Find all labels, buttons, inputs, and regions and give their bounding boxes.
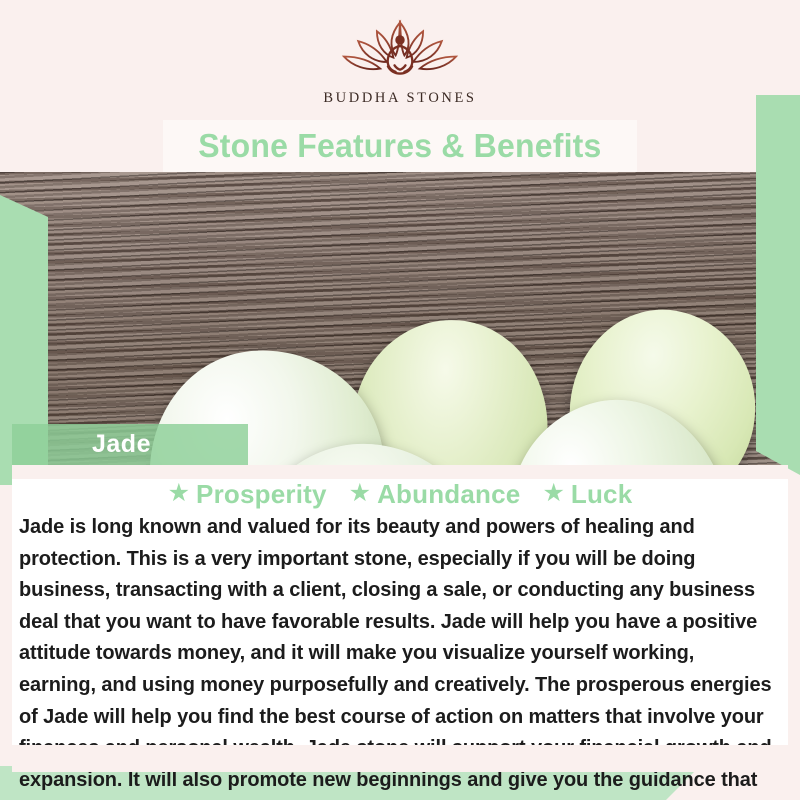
content-panel: ★ Prosperity ★ Abundance ★ Luck Jade is … bbox=[12, 465, 788, 772]
benefit-item-abundance: ★ Abundance bbox=[349, 479, 521, 510]
stone-name-band: Jade bbox=[12, 424, 248, 465]
poster-root: BUDDHA STONES Stone Features & Benefits … bbox=[0, 0, 800, 800]
page-title: Stone Features & Benefits bbox=[198, 127, 601, 165]
lotus-meditation-icon bbox=[339, 18, 461, 84]
benefit-label: Abundance bbox=[377, 479, 520, 510]
brand-header: BUDDHA STONES bbox=[0, 0, 800, 118]
benefit-label: Prosperity bbox=[196, 479, 327, 510]
panel-top-strip bbox=[12, 465, 788, 479]
brand-name: BUDDHA STONES bbox=[323, 90, 476, 107]
benefits-row: ★ Prosperity ★ Abundance ★ Luck bbox=[12, 478, 788, 510]
stone-name-label: Jade bbox=[92, 430, 151, 459]
star-icon: ★ bbox=[168, 481, 190, 506]
stone-photo bbox=[0, 172, 800, 465]
title-banner: Stone Features & Benefits bbox=[163, 120, 637, 172]
benefit-item-luck: ★ Luck bbox=[542, 479, 632, 510]
star-icon: ★ bbox=[349, 481, 371, 506]
panel-bottom-strip bbox=[12, 745, 788, 772]
benefit-label: Luck bbox=[571, 479, 632, 510]
decorative-bar-right bbox=[756, 95, 800, 475]
benefit-item-prosperity: ★ Prosperity bbox=[168, 479, 327, 510]
star-icon: ★ bbox=[542, 481, 564, 506]
